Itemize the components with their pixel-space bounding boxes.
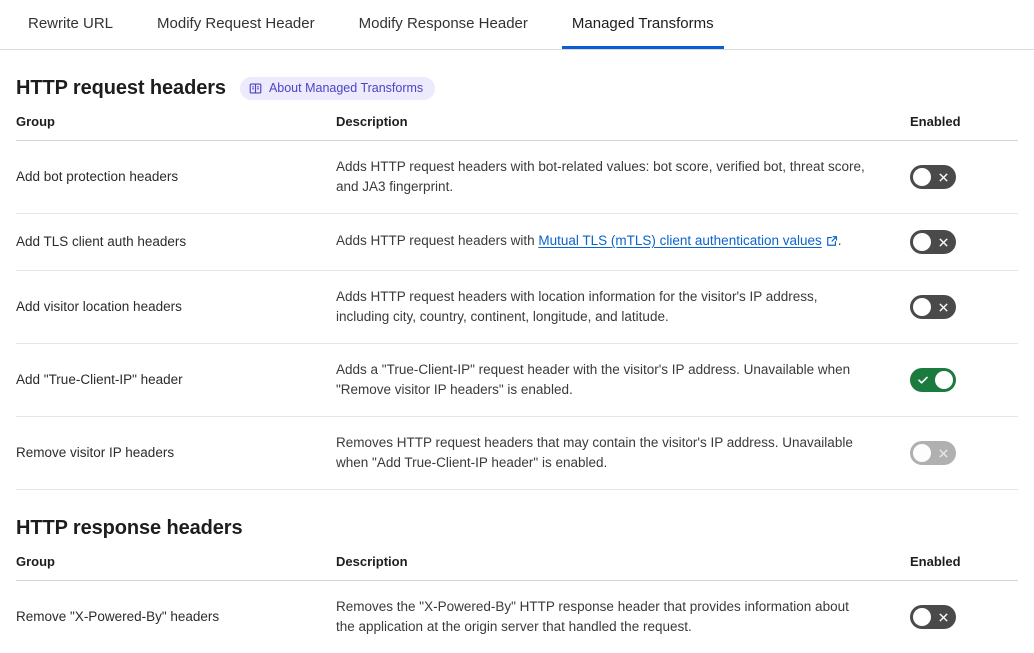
toggle-knob	[913, 608, 931, 626]
column-header-description: Description	[320, 554, 898, 581]
column-header-group: Group	[16, 114, 320, 141]
row-group-label: Remove visitor IP headers	[16, 417, 320, 490]
column-header-description: Description	[320, 114, 898, 141]
table-header-row: Group Description Enabled	[16, 114, 1018, 141]
tab-managed-transforms[interactable]: Managed Transforms	[550, 0, 736, 49]
tab-modify-response-header[interactable]: Modify Response Header	[337, 0, 550, 49]
toggle-remove-x-powered-by-headers[interactable]	[910, 605, 956, 629]
mtls-link-label: Mutual TLS (mTLS) client authentication …	[538, 233, 821, 248]
request-section-header: HTTP request headers About Managed Trans…	[16, 50, 1018, 114]
table-row: Add visitor location headers Adds HTTP r…	[16, 271, 1018, 344]
book-icon	[249, 82, 262, 95]
row-enabled-cell	[898, 141, 1018, 214]
row-group-label: Add visitor location headers	[16, 271, 320, 344]
tab-bar: Rewrite URL Modify Request Header Modify…	[0, 0, 1034, 50]
toggle-knob	[935, 371, 953, 389]
check-icon	[917, 368, 929, 392]
tab-modify-request-header[interactable]: Modify Request Header	[135, 0, 337, 49]
row-group-label: Add bot protection headers	[16, 141, 320, 214]
row-description: Adds HTTP request headers with Mutual TL…	[320, 214, 898, 271]
toggle-add-tls-client-auth-headers[interactable]	[910, 230, 956, 254]
row-enabled-cell	[898, 344, 1018, 417]
row-enabled-cell	[898, 214, 1018, 271]
table-row: Remove visitor IP headers Removes HTTP r…	[16, 417, 1018, 490]
table-header-row: Group Description Enabled	[16, 554, 1018, 581]
toggle-add-bot-protection-headers[interactable]	[910, 165, 956, 189]
toggle-knob	[913, 444, 931, 462]
row-description-prefix: Adds HTTP request headers with	[336, 233, 538, 248]
table-row: Add bot protection headers Adds HTTP req…	[16, 141, 1018, 214]
response-headers-table: Group Description Enabled Remove "X-Powe…	[16, 554, 1018, 653]
row-group-label: Add TLS client auth headers	[16, 214, 320, 271]
about-managed-transforms-label: About Managed Transforms	[269, 81, 423, 96]
row-group-label: Add "True-Client-IP" header	[16, 344, 320, 417]
toggle-knob	[913, 233, 931, 251]
http-response-headers-section: HTTP response headers Group Description …	[0, 490, 1034, 653]
close-icon	[938, 441, 949, 465]
table-row: Remove "X-Powered-By" headers Removes th…	[16, 581, 1018, 653]
external-link-icon	[826, 233, 838, 253]
request-headers-table: Group Description Enabled Add bot protec…	[16, 114, 1018, 490]
toggle-remove-visitor-ip-headers	[910, 441, 956, 465]
table-row: Add "True-Client-IP" header Adds a "True…	[16, 344, 1018, 417]
table-row: Add TLS client auth headers Adds HTTP re…	[16, 214, 1018, 271]
row-description: Adds a "True-Client-IP" request header w…	[320, 344, 898, 417]
column-header-enabled: Enabled	[898, 554, 1018, 581]
mtls-documentation-link[interactable]: Mutual TLS (mTLS) client authentication …	[538, 233, 821, 248]
row-description: Adds HTTP request headers with location …	[320, 271, 898, 344]
request-section-title: HTTP request headers	[16, 77, 226, 100]
toggle-knob	[913, 298, 931, 316]
row-group-label: Remove "X-Powered-By" headers	[16, 581, 320, 653]
toggle-knob	[913, 168, 931, 186]
close-icon	[938, 230, 949, 254]
about-managed-transforms-badge[interactable]: About Managed Transforms	[240, 77, 435, 100]
close-icon	[938, 605, 949, 629]
tab-rewrite-url[interactable]: Rewrite URL	[6, 0, 135, 49]
response-section-title: HTTP response headers	[16, 517, 243, 540]
row-description: Removes the "X-Powered-By" HTTP response…	[320, 581, 898, 653]
toggle-add-visitor-location-headers[interactable]	[910, 295, 956, 319]
close-icon	[938, 295, 949, 319]
row-description-suffix: .	[838, 233, 842, 248]
row-enabled-cell	[898, 581, 1018, 653]
row-description: Removes HTTP request headers that may co…	[320, 417, 898, 490]
row-enabled-cell	[898, 271, 1018, 344]
close-icon	[938, 165, 949, 189]
toggle-add-true-client-ip-header[interactable]	[910, 368, 956, 392]
row-enabled-cell	[898, 417, 1018, 490]
row-description: Adds HTTP request headers with bot-relat…	[320, 141, 898, 214]
http-request-headers-section: HTTP request headers About Managed Trans…	[0, 50, 1034, 490]
column-header-enabled: Enabled	[898, 114, 1018, 141]
response-section-header: HTTP response headers	[16, 490, 1018, 554]
column-header-group: Group	[16, 554, 320, 581]
